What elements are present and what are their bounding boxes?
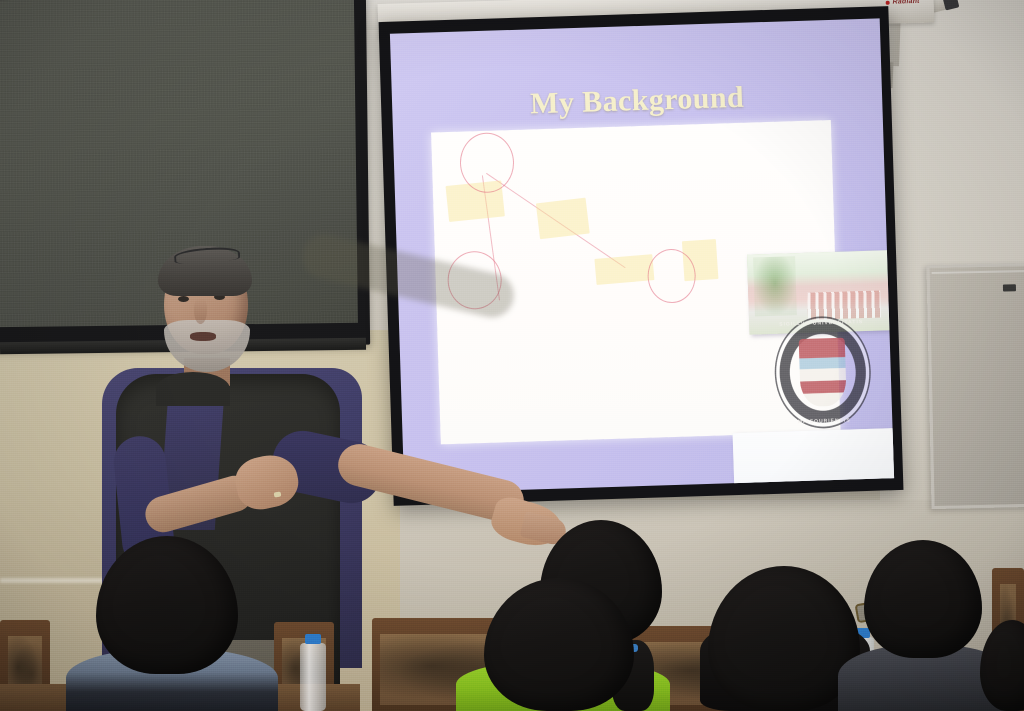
university-seal: SIGILLVM UNIVERSITATIS MISSOURIENSIS: [773, 315, 872, 430]
seal-bottom-text: MISSOURIENSIS: [798, 417, 851, 425]
housing-brand-label: Radiant: [892, 0, 919, 6]
panel-top-edge: [932, 270, 1024, 274]
seal-shield: [799, 338, 847, 407]
map-highlight-circle-3: [647, 248, 697, 303]
lecture-photo-scene: Radiant My Background: [0, 0, 1024, 711]
map-label-cyan: [542, 213, 544, 219]
field-landscape-photo: [733, 428, 894, 494]
housing-brand-group: Radiant: [886, 0, 920, 6]
bottle-cap-icon: [305, 634, 321, 644]
panel-latch-icon: [1003, 284, 1016, 291]
brand-dot-icon: [886, 0, 890, 4]
presenter-mouth: [190, 332, 216, 341]
presenter-eye-left: [178, 296, 189, 302]
presenter-beard: [164, 320, 250, 372]
wall-access-panel: [926, 263, 1024, 509]
map-label-red: [534, 177, 536, 183]
seal-top-text: SIGILLVM UNIVERSITATIS: [779, 319, 863, 328]
water-bottle-left: [300, 643, 326, 711]
map-note-3: [594, 254, 654, 285]
presenter-vest-collar: [156, 372, 230, 406]
slide-title: My Background: [392, 76, 883, 125]
photo-tree: [753, 256, 797, 316]
map-note-2: [536, 198, 590, 240]
map-highlight-circle-1: [459, 132, 515, 194]
presenter-nose: [194, 298, 207, 324]
